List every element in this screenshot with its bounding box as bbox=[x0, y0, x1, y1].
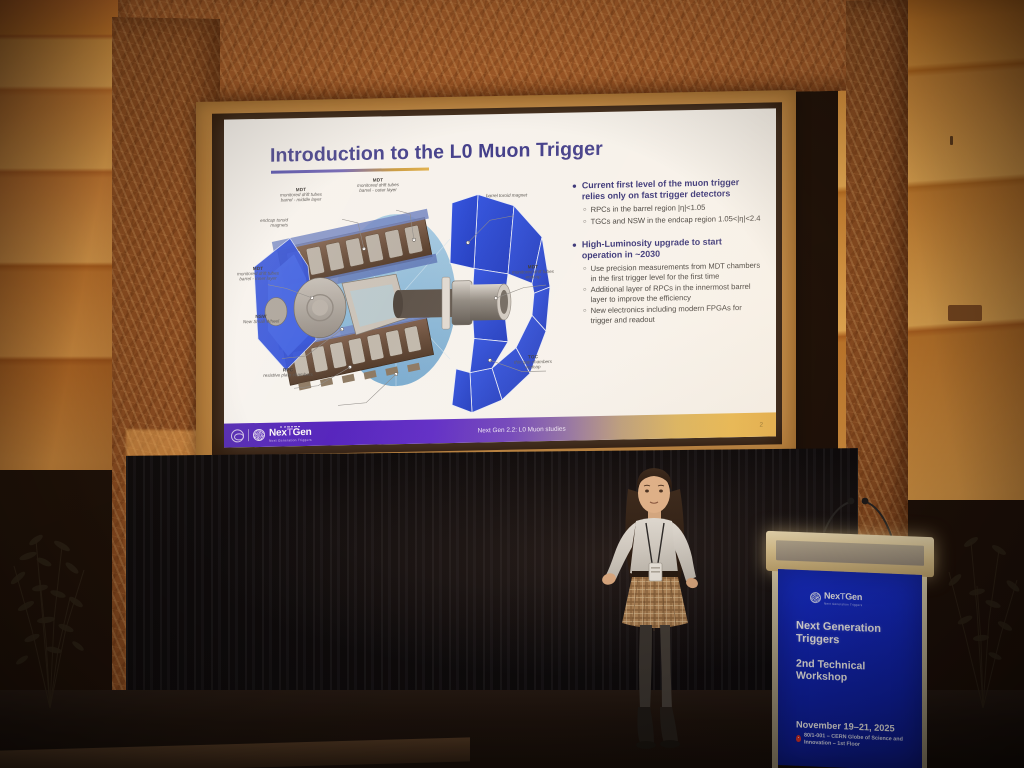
slide-title: Introduction to the L0 Muon Trigger bbox=[270, 138, 603, 168]
bullet-dot-icon: ● bbox=[572, 180, 577, 203]
speaker-podium: NexTGen Next Generation Triggers Next Ge… bbox=[766, 534, 934, 768]
bullet-ring-icon: ○ bbox=[583, 285, 587, 305]
podium-logo-group: NexTGen Next Generation Triggers bbox=[810, 591, 862, 607]
presenter bbox=[596, 455, 716, 760]
bullet-ring-icon: ○ bbox=[583, 306, 587, 326]
ceiling-beam bbox=[118, 0, 896, 104]
muon-spectrometer-diagram: MDT monitored drift tubes barrel - middl… bbox=[246, 175, 562, 420]
location-pin-icon bbox=[796, 735, 801, 742]
bullet-ring-icon: ○ bbox=[583, 217, 587, 227]
podium-gear-icon bbox=[810, 592, 821, 603]
bullet-ring-icon: ○ bbox=[583, 264, 587, 284]
bullet-item-sub: ○ Use precision measurements from MDT ch… bbox=[583, 261, 764, 284]
wall-fitting-right bbox=[950, 136, 953, 145]
podium-wordmark: NexTGen Next Generation Triggers bbox=[824, 591, 862, 606]
projected-slide: Introduction to the L0 Muon Trigger bbox=[224, 108, 776, 447]
diagram-label-mdt-barrel-inner: MDT monitored drift tubes barrel - inner… bbox=[224, 266, 294, 282]
bullet-item-sub: ○ New electronics including modern FPGAs… bbox=[583, 303, 764, 326]
wall-vent-right bbox=[948, 305, 982, 321]
bullet-ring-icon: ○ bbox=[583, 206, 587, 216]
stage-curtain-light bbox=[126, 448, 858, 708]
slide-page-number: 2 bbox=[759, 421, 763, 428]
conference-hall-scene: Introduction to the L0 Muon Trigger bbox=[0, 0, 1024, 768]
diagram-label-mdt-barrel-outer: MDT monitored drift tubes barrel - outer… bbox=[338, 178, 418, 194]
podium-event-subtitle: 2nd Technical Workshop bbox=[796, 657, 916, 687]
bullet-item-primary: ● Current first level of the muon trigge… bbox=[572, 177, 764, 203]
diagram-label-mdt-barrel-middle: MDT monitored drift tubes barrel - middl… bbox=[262, 187, 340, 203]
podium-event-title: Next Generation Triggers bbox=[796, 619, 916, 650]
nextgen-tagline: Next Generation Triggers bbox=[269, 439, 312, 443]
bullet-item-primary: ● High-Luminosity upgrade to start opera… bbox=[572, 235, 764, 261]
diagram-label-rpc: RPC resistive plate chambers bbox=[250, 368, 326, 379]
bamboo-plant-left bbox=[0, 470, 110, 710]
bamboo-plant-right bbox=[935, 470, 1024, 710]
nextgen-gear-icon bbox=[253, 429, 265, 441]
bullet-item-sub: ○ Additional layer of RPCs in the innerm… bbox=[583, 282, 764, 305]
microphone-gooseneck-right bbox=[866, 502, 892, 538]
podium-brand-name: NexTGen bbox=[824, 591, 862, 602]
title-underline bbox=[271, 167, 429, 173]
logo-divider bbox=[248, 429, 249, 441]
bullet-dot-icon: ● bbox=[572, 239, 577, 262]
diagram-label-mdt-endcap: MDT monitored drift tubes endcap bbox=[502, 265, 564, 281]
footer-center-text: Next Gen 2.2: L0 Muon studies bbox=[284, 421, 760, 438]
cern-logo-icon bbox=[231, 429, 244, 442]
diagram-label-nsw: NSW New Small Wheel bbox=[230, 314, 292, 325]
diagram-label-endcap-toroid: endcap toroid magnets bbox=[232, 218, 288, 229]
diagram-label-tgc: TGC thin gap chambers endcap bbox=[502, 355, 564, 371]
slide-bullet-list: ● Current first level of the muon trigge… bbox=[572, 177, 764, 328]
